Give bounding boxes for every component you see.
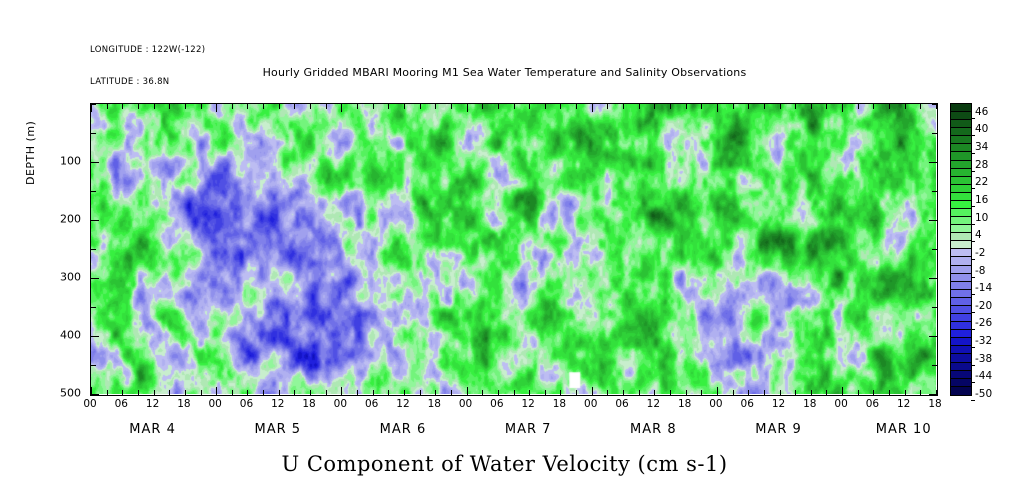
x-tick-label: 00 [459, 398, 472, 410]
colorbar-segment [951, 322, 971, 330]
colorbar-tick-label: 10 [975, 212, 988, 224]
x-day-label: MAR 5 [254, 422, 301, 437]
x-tick-label: 12 [772, 398, 785, 410]
x-axis-day-labels: MAR 4MAR 5MAR 6MAR 7MAR 8MAR 9MAR 10 [90, 422, 938, 440]
colorbar-tick-label: -8 [975, 265, 985, 277]
colorbar-tick-label: -38 [975, 353, 992, 365]
y-tick-label: 100 [60, 155, 86, 168]
colorbar-segment [951, 217, 971, 225]
colorbar-segment [951, 241, 971, 249]
colorbar-segment [951, 152, 971, 160]
colorbar-segment [951, 225, 971, 233]
y-axis-labels: 100200300400500 [40, 103, 86, 396]
colorbar-segment [951, 306, 971, 314]
colorbar-segment [951, 209, 971, 217]
colorbar-tick-label: -44 [975, 370, 992, 382]
x-tick-label: 12 [146, 398, 159, 410]
colorbar-segment [951, 185, 971, 193]
x-tick-label: 18 [678, 398, 691, 410]
x-tick-label: 06 [866, 398, 879, 410]
x-tick-label: 00 [209, 398, 222, 410]
x-tick-label: 18 [302, 398, 315, 410]
colorbar-segment [951, 314, 971, 322]
colorbar-segment [951, 257, 971, 265]
x-axis-hour-labels: 0006121800061218000612180006121800061218… [90, 398, 938, 412]
colorbar-segment [951, 249, 971, 257]
x-tick-label: 00 [584, 398, 597, 410]
plot-caption: U Component of Water Velocity (cm s-1) [0, 452, 1009, 476]
colorbar-tick-label: 40 [975, 123, 988, 135]
colorbar-segment [951, 363, 971, 371]
y-axis-title: DEPTH (m) [24, 121, 37, 185]
colorbar-segment [951, 161, 971, 169]
colorbar-segment [951, 379, 971, 387]
colorbar-segment [951, 104, 971, 112]
y-tick-label: 500 [60, 387, 86, 400]
colorbar-segment [951, 266, 971, 274]
colorbar-segment [951, 298, 971, 306]
x-tick-label: 12 [521, 398, 534, 410]
colorbar-segment [951, 177, 971, 185]
y-tick-label: 300 [60, 271, 86, 284]
x-day-label: MAR 9 [755, 422, 802, 437]
x-tick-label: 06 [615, 398, 628, 410]
x-tick-label: 18 [177, 398, 190, 410]
x-tick-label: 18 [553, 398, 566, 410]
colorbar-segment [951, 338, 971, 346]
colorbar-tick-label: -20 [975, 300, 992, 312]
colorbar-segment [951, 233, 971, 241]
colorbar-segment [951, 282, 971, 290]
colorbar-tick-label: 34 [975, 141, 988, 153]
y-tick-label: 200 [60, 213, 86, 226]
velocity-field-canvas [91, 104, 936, 394]
colorbar [950, 103, 972, 396]
colorbar-tick-label: 46 [975, 106, 988, 118]
colorbar-tick-label: -2 [975, 247, 985, 259]
colorbar-segment [951, 371, 971, 379]
colorbar-segment [951, 136, 971, 144]
colorbar-segment [951, 387, 971, 395]
x-day-label: MAR 7 [505, 422, 552, 437]
colorbar-tick-label: -26 [975, 317, 992, 329]
colorbar-segment [951, 144, 971, 152]
x-tick-label: 12 [897, 398, 910, 410]
colorbar-segment [951, 201, 971, 209]
x-tick-label: 06 [115, 398, 128, 410]
x-tick-label: 00 [834, 398, 847, 410]
x-tick-label: 18 [928, 398, 941, 410]
heatmap-plot-area [90, 103, 938, 396]
colorbar-labels: 464034282216104-2-8-14-20-26-32-38-44-50 [975, 103, 1009, 396]
x-day-label: MAR 10 [876, 422, 932, 437]
colorbar-tick-label: 4 [975, 229, 982, 241]
colorbar-segment [951, 330, 971, 338]
colorbar-segment [951, 120, 971, 128]
colorbar-tick-label: 22 [975, 176, 988, 188]
x-tick-label: 00 [83, 398, 96, 410]
colorbar-tick-label: 28 [975, 159, 988, 171]
x-tick-label: 06 [490, 398, 503, 410]
x-day-label: MAR 6 [380, 422, 427, 437]
colorbar-tick-label: 16 [975, 194, 988, 206]
colorbar-segment [951, 193, 971, 201]
x-tick-label: 18 [428, 398, 441, 410]
colorbar-tick-label: -14 [975, 282, 992, 294]
colorbar-segment [951, 346, 971, 354]
x-tick-label: 18 [803, 398, 816, 410]
colorbar-segment [951, 169, 971, 177]
x-day-label: MAR 4 [129, 422, 176, 437]
x-tick-label: 12 [647, 398, 660, 410]
chart-title: Hourly Gridded MBARI Mooring M1 Sea Wate… [0, 66, 1009, 79]
colorbar-segment [951, 290, 971, 298]
colorbar-tick-label: -32 [975, 335, 992, 347]
x-tick-label: 06 [741, 398, 754, 410]
colorbar-segment [951, 354, 971, 362]
x-tick-label: 12 [396, 398, 409, 410]
x-tick-label: 06 [240, 398, 253, 410]
x-day-label: MAR 8 [630, 422, 677, 437]
colorbar-tick-label: -50 [975, 388, 992, 400]
x-tick-label: 00 [334, 398, 347, 410]
x-tick-label: 06 [365, 398, 378, 410]
colorbar-segment [951, 274, 971, 282]
colorbar-segment [951, 128, 971, 136]
x-tick-label: 00 [709, 398, 722, 410]
x-tick-label: 12 [271, 398, 284, 410]
y-tick-label: 400 [60, 329, 86, 342]
longitude-text: LONGITUDE : 122W(-122) [90, 45, 205, 56]
colorbar-segment [951, 112, 971, 120]
